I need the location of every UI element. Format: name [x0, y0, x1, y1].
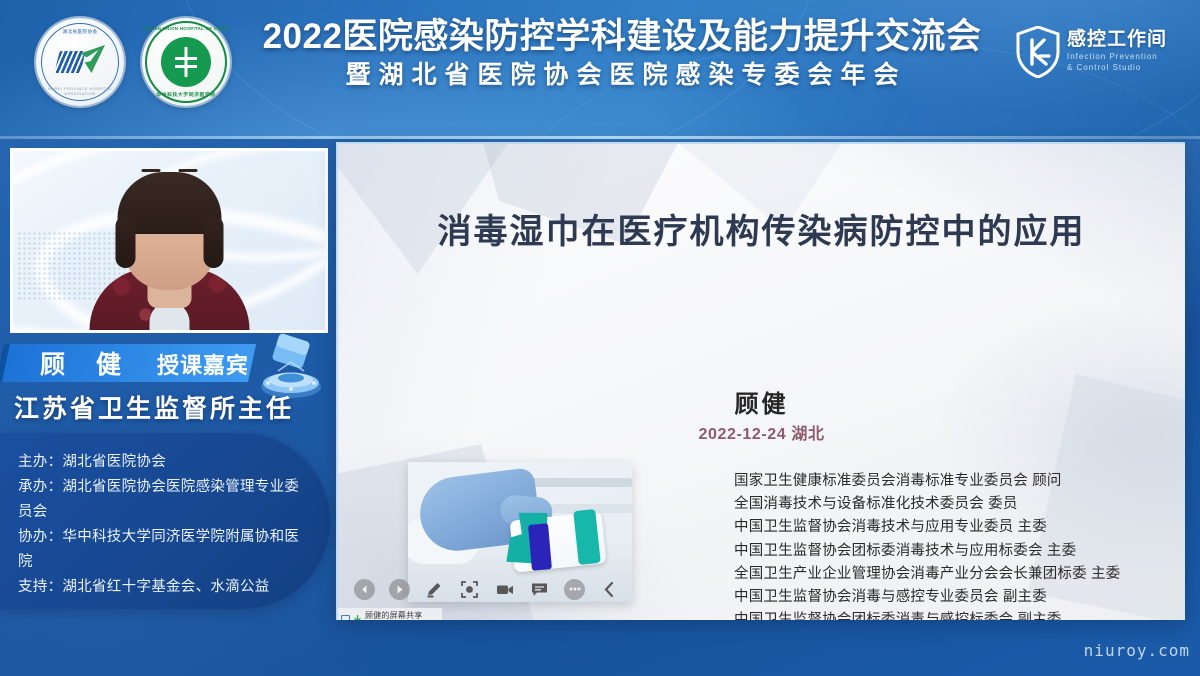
banner-title-block: 2022医院感染防控学科建设及能力提升交流会 暨湖北省医院协会医院感染专委会年会 [252, 16, 992, 95]
previous-button[interactable] [354, 579, 375, 600]
studio-text-block: 感控工作间 Infection Prevention & Control Stu… [1067, 26, 1167, 74]
speaker-video-tile[interactable] [10, 148, 328, 333]
hubei-logo-bottom-text: HUBEI PROVINCE HOSPITAL ASSOCIATION [36, 86, 124, 96]
speaker-name: 顾 健 [40, 345, 133, 381]
union-logo-cross-icon [173, 47, 199, 77]
annotate-pen-icon[interactable] [424, 579, 445, 600]
screen-share-label: 顾健的屏幕共享 [365, 610, 422, 620]
credential-line: 中国卫生监督协会团标委消毒与感控标委会 副主委 [734, 609, 1185, 620]
speaker-job-title: 江苏省卫生监督所主任 [14, 389, 294, 425]
speaker-role: 授课嘉宾 [157, 348, 249, 380]
credential-line: 中国卫生监督协会消毒技术与应用专业委员 主委 [734, 516, 1185, 539]
infection-control-studio-logo: 感控工作间 Infection Prevention & Control Stu… [1016, 26, 1167, 78]
studio-name-en-line1: Infection Prevention [1067, 51, 1167, 63]
hubei-logo-top-text: 湖北省医院协会 [36, 29, 124, 35]
speaker-badge-content: 顾 健 授课嘉宾 [6, 345, 249, 381]
chat-icon[interactable] [529, 579, 550, 600]
credential-line: 中国卫生监督协会消毒与感控专业委员会 副主委 [734, 586, 1185, 609]
focus-frame-icon[interactable] [459, 579, 480, 600]
shared-screen-panel[interactable]: 消毒湿巾在医疗机构传染病防控中的应用 顾健 2022-12-24 湖北 国家卫生… [336, 142, 1185, 620]
download-arrow-icon [353, 611, 362, 620]
slide-speaker-name: 顾健 [338, 384, 1185, 419]
share-control-bar[interactable] [344, 572, 594, 606]
more-options-icon[interactable] [564, 579, 585, 600]
union-logo-emblem-icon [161, 37, 211, 87]
presentation-slide: 消毒湿巾在医疗机构传染病防控中的应用 顾健 2022-12-24 湖北 国家卫生… [338, 144, 1185, 620]
credential-line: 全国消毒技术与设备标准化技术委员会 委员 [734, 493, 1185, 516]
speaker-portrait [97, 180, 242, 330]
union-logo-top-text: WUHAN UNION HOSPITAL OF CHINA [142, 26, 230, 31]
organizer-line-coorganizer: 协办：华中科技大学同济医学院附属协和医院 [18, 525, 306, 575]
monitor-icon [341, 611, 350, 620]
photo-wipe-blue-shape [528, 523, 552, 571]
camera-icon[interactable] [494, 579, 515, 600]
conference-title-main: 2022医院感染防控学科建设及能力提升交流会 [252, 16, 992, 57]
speaker-hair [117, 172, 221, 234]
slide-date-location: 2022-12-24 湖北 [338, 420, 1185, 444]
conference-title-sub: 暨湖北省医院协会医院感染专委会年会 [252, 57, 992, 95]
slide-title: 消毒湿巾在医疗机构传染病防控中的应用 [338, 204, 1185, 253]
left-sidebar: 顾 健 授课嘉宾 江苏省卫生监督所主任 [0, 139, 336, 676]
organizer-info-list: 主办：湖北省医院协会 承办：湖北省医院协会医院感染管理专业委员会 协办：华中科技… [18, 450, 306, 600]
app-root: 湖北省医院协会 HUBEI PROVINCE HOSPITAL ASSOCIAT… [0, 0, 1200, 676]
hubei-logo-bars [54, 51, 85, 73]
organizer-info-box: 主办：湖北省医院协会 承办：湖北省医院协会医院感染管理专业委员会 协办：华中科技… [0, 433, 330, 609]
organizer-line-host: 主办：湖北省医院协会 [18, 450, 306, 475]
organizer-line-support: 支持：湖北省红十字基金会、水滴公益 [18, 575, 306, 600]
shield-icon [1016, 26, 1060, 78]
credential-line: 国家卫生健康标准委员会消毒标准专业委员会 顾问 [734, 470, 1185, 493]
organizer-line-undertaker: 承办：湖北省医院协会医院感染管理专业委员会 [18, 475, 306, 525]
union-logo-bottom-text: 华中科技大学同济医学院 [142, 91, 230, 98]
hubei-hospital-association-logo: 湖北省医院协会 HUBEI PROVINCE HOSPITAL ASSOCIAT… [36, 18, 124, 106]
credential-line: 中国卫生监督协会团标委消毒技术与应用标委会 主委 [734, 540, 1185, 563]
collapse-chevron-left-icon[interactable] [599, 579, 620, 600]
studio-name-en-line2: & Control Studio [1067, 62, 1167, 74]
conference-banner: 湖北省医院协会 HUBEI PROVINCE HOSPITAL ASSOCIAT… [0, 0, 1200, 139]
site-watermark: niuroy.com [1084, 641, 1190, 660]
wuhan-union-hospital-logo: WUHAN UNION HOSPITAL OF CHINA 华中科技大学同济医学… [142, 18, 230, 106]
speaker-name-badge: 顾 健 授课嘉宾 [2, 344, 256, 382]
play-button[interactable] [389, 579, 410, 600]
hubei-logo-mark-icon [57, 47, 103, 77]
screen-share-status-bar: 顾健的屏幕共享 [338, 608, 442, 620]
studio-name-cn: 感控工作间 [1067, 29, 1167, 51]
credential-line: 全国卫生产业企业管理协会消毒产业分会会长兼团标委 主委 [734, 563, 1185, 586]
slide-credentials-list: 国家卫生健康标准委员会消毒标准专业委员会 顾问 全国消毒技术与设备标准化技术委员… [734, 470, 1185, 620]
